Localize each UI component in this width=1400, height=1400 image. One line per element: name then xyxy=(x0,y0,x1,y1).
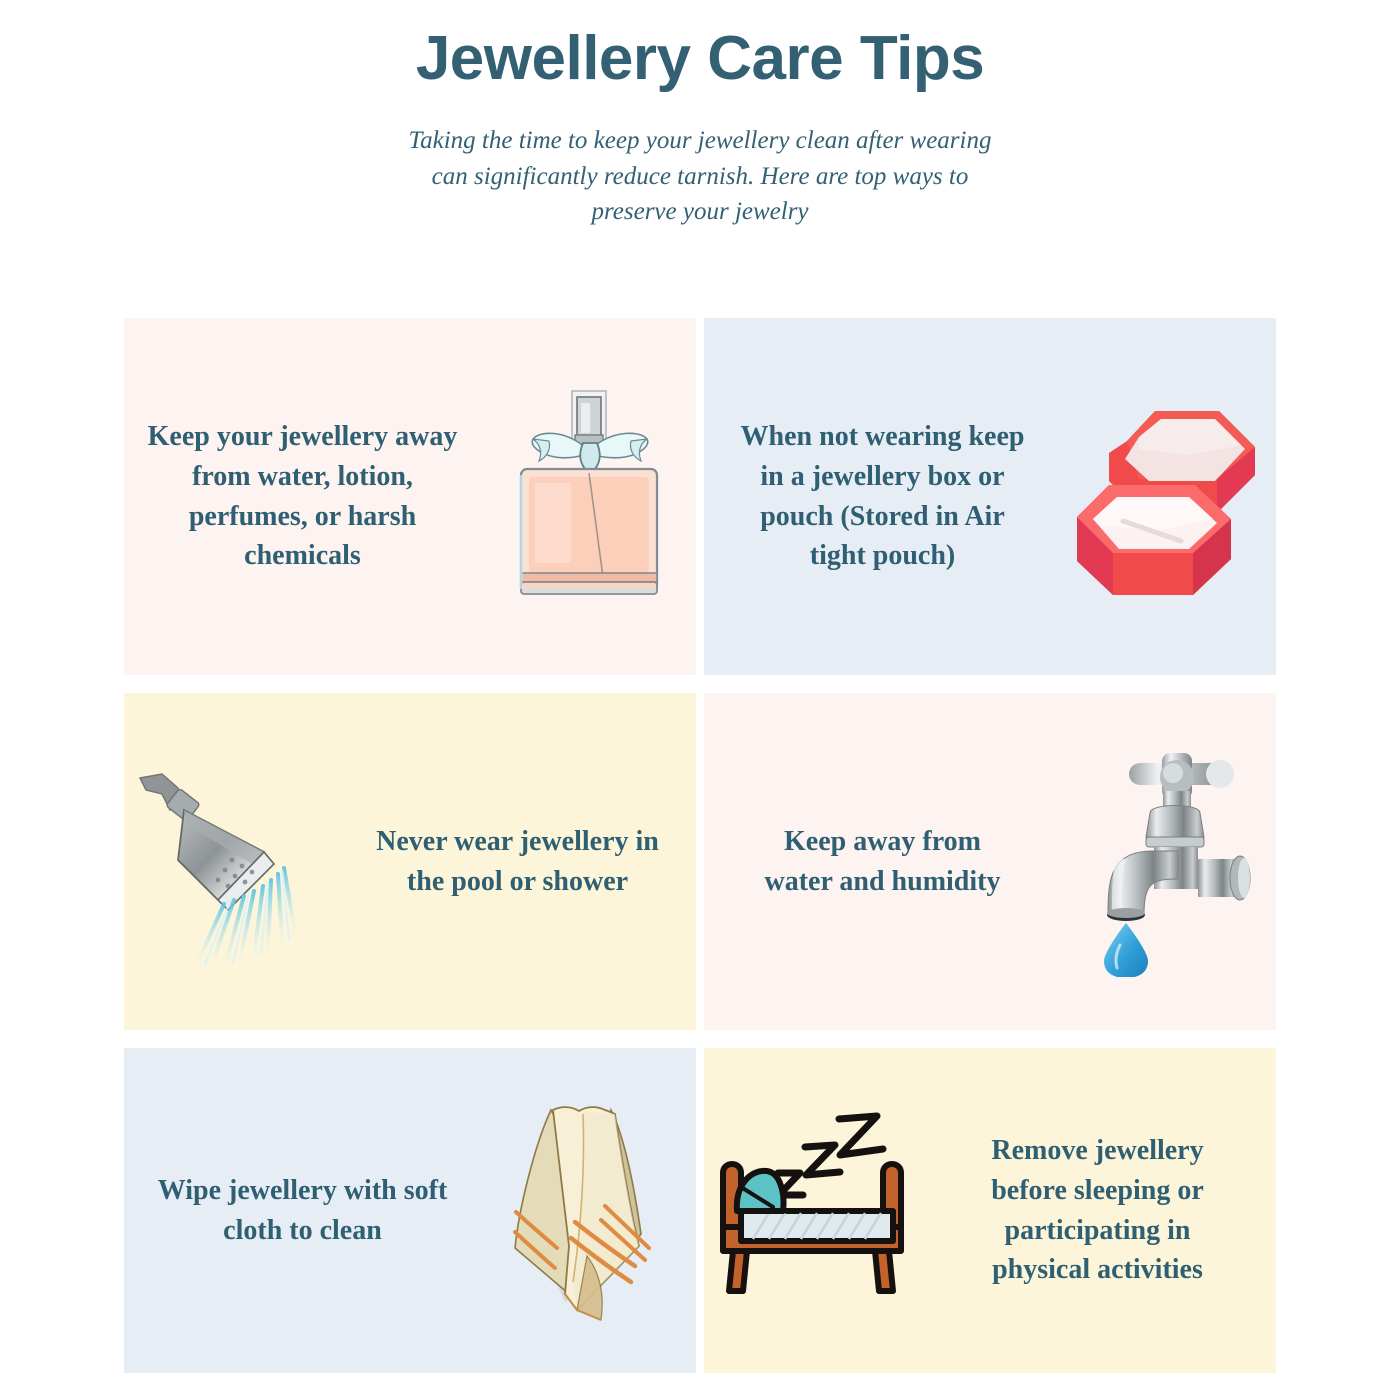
tip-text: Keep your jewellery away from water, lot… xyxy=(124,417,481,576)
cloth-icon xyxy=(481,1048,696,1373)
page-title: Jewellery Care Tips xyxy=(0,26,1400,91)
tip-text: Keep away from water and humidity xyxy=(733,822,1033,902)
shower-head-icon xyxy=(124,693,339,1030)
tip-card-soft-cloth: Wipe jewellery with soft cloth to clean xyxy=(124,1048,696,1373)
page-subtitle: Taking the time to keep your jewellery c… xyxy=(390,123,1010,230)
tip-card-water-humidity: Keep away from water and humidity xyxy=(704,693,1276,1030)
faucet-drip-icon xyxy=(1061,693,1276,1030)
infographic-page: Jewellery Care Tips Taking the time to k… xyxy=(0,0,1400,1400)
tip-text: Wipe jewellery with soft cloth to clean xyxy=(138,1171,468,1251)
tip-card-pool-shower: Never wear jewellery in the pool or show… xyxy=(124,693,696,1030)
tip-text: When not wearing keep in a jewellery box… xyxy=(718,417,1048,576)
bed-sleep-icon xyxy=(704,1048,919,1373)
tips-grid: Keep your jewellery away from water, lot… xyxy=(124,318,1276,1373)
perfume-bottle-icon xyxy=(481,318,696,675)
tip-card-chemicals: Keep your jewellery away from water, lot… xyxy=(124,318,696,675)
tip-text: Remove jewellery before sleeping or part… xyxy=(948,1131,1248,1290)
ring-box-icon xyxy=(1061,318,1276,675)
tip-card-storage: When not wearing keep in a jewellery box… xyxy=(704,318,1276,675)
header: Jewellery Care Tips Taking the time to k… xyxy=(0,0,1400,230)
tip-text: Never wear jewellery in the pool or show… xyxy=(358,822,678,902)
tip-card-sleeping: Remove jewellery before sleeping or part… xyxy=(704,1048,1276,1373)
